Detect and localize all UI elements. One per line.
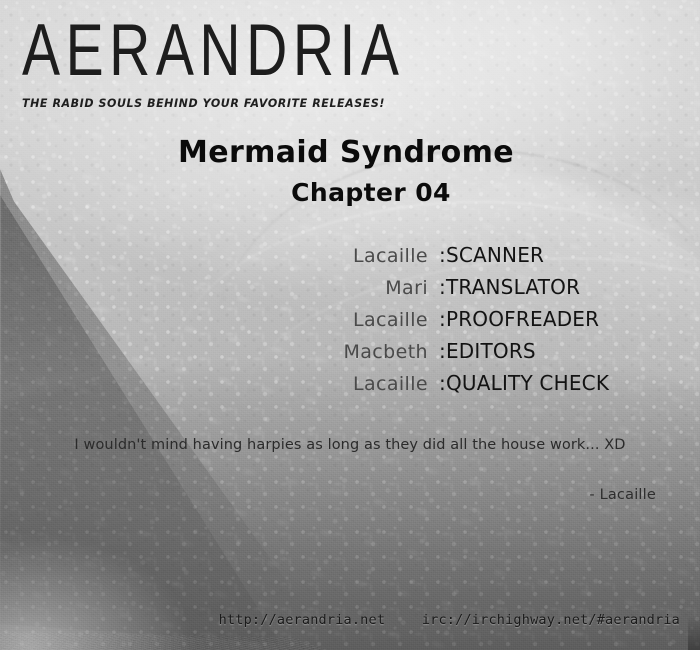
credit-row: Lacaille :SCANNER <box>0 240 652 272</box>
credit-row: Lacaille :QUALITY CHECK <box>0 368 652 400</box>
credit-role: :QUALITY CHECK <box>439 368 652 399</box>
group-logo: AERANDRIA THE RABID SOULS BEHIND YOUR FA… <box>22 16 322 110</box>
logo-tagline: THE RABID SOULS BEHIND YOUR FAVORITE REL… <box>22 96 310 110</box>
credit-row: Macbeth :EDITORS <box>0 336 652 368</box>
translator-signature: - Lacaille <box>589 487 656 503</box>
title-block: Mermaid Syndrome Chapter 04 <box>0 136 700 210</box>
page-content: AERANDRIA THE RABID SOULS BEHIND YOUR FA… <box>0 0 700 650</box>
translator-note: I wouldn't mind having harpies as long a… <box>0 437 700 453</box>
credit-role: :EDITORS <box>439 336 652 367</box>
credit-row: Mari :TRANSLATOR <box>0 272 652 304</box>
credit-role: :TRANSLATOR <box>439 272 652 303</box>
credits-page: AERANDRIA THE RABID SOULS BEHIND YOUR FA… <box>0 0 700 650</box>
credit-name: Macbeth <box>343 337 428 368</box>
credit-name: Lacaille <box>353 241 428 272</box>
credit-row: Lacaille :PROOFREADER <box>0 304 652 336</box>
credit-name: Lacaille <box>353 305 428 336</box>
credit-role: :PROOFREADER <box>439 304 652 335</box>
chapter-title: Chapter 04 <box>0 176 700 210</box>
series-title: Mermaid Syndrome <box>0 136 692 170</box>
credit-role: :SCANNER <box>439 240 652 271</box>
website-link[interactable]: http://aerandria.net <box>219 612 386 628</box>
footer-links: http://aerandria.net irc://irchighway.ne… <box>0 612 680 628</box>
credits-list: Lacaille :SCANNER Mari :TRANSLATOR Lacai… <box>0 240 652 400</box>
credit-name: Mari <box>385 273 428 304</box>
logo-wordmark: AERANDRIA <box>22 16 298 87</box>
credit-name: Lacaille <box>353 369 428 400</box>
irc-link[interactable]: irc://irchighway.net/#aerandria <box>422 612 680 628</box>
